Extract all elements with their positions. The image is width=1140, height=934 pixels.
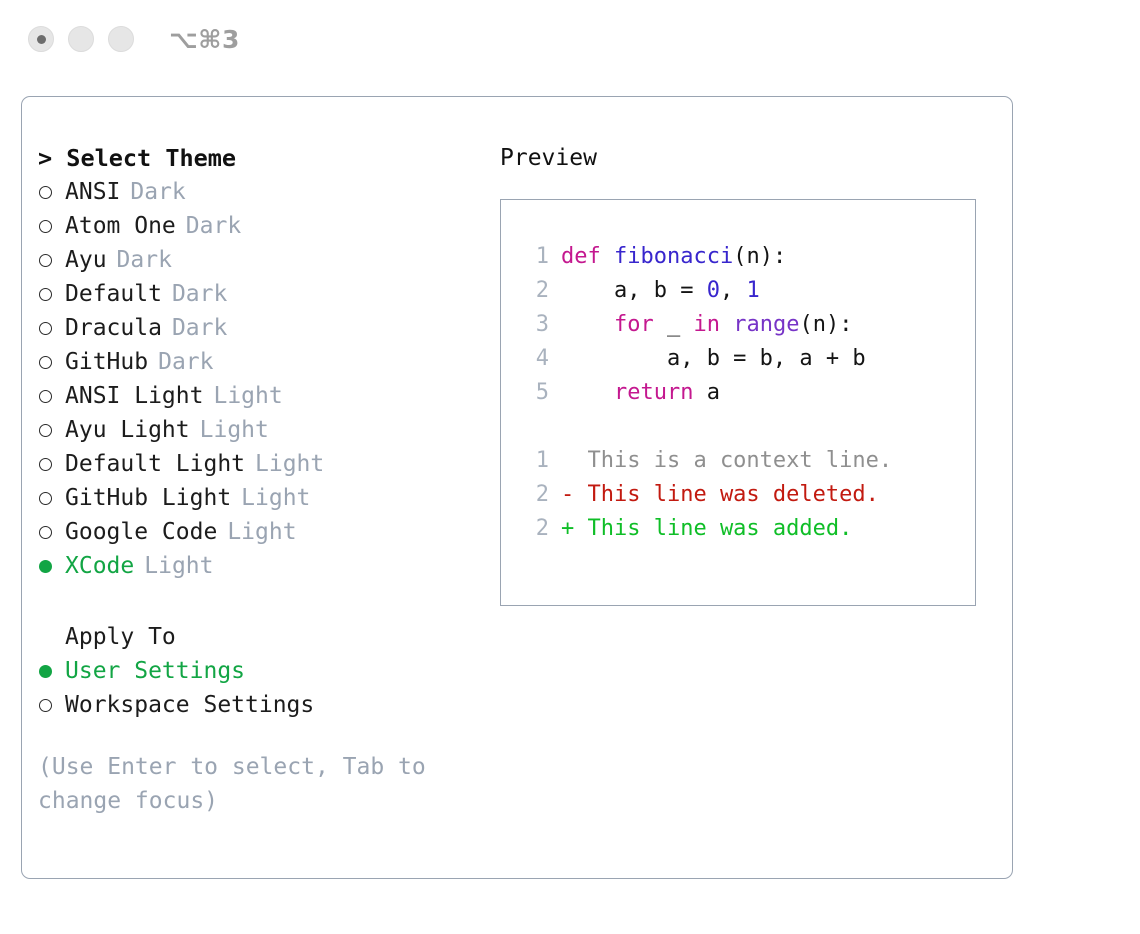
diff-line: 1 This is a context line. <box>519 444 975 478</box>
radio-unselected-icon <box>39 424 52 437</box>
radio-marker <box>38 379 65 413</box>
preview-box: 1def fibonacci(n):2 a, b = 0, 13 for _ i… <box>500 199 976 606</box>
window-controls <box>28 26 134 52</box>
theme-name: Atom One <box>65 209 176 243</box>
theme-list-item[interactable]: Google CodeLight <box>38 515 478 549</box>
window-dot-second-icon[interactable] <box>68 26 94 52</box>
window-titlebar: ⌥⌘3 <box>0 0 1140 78</box>
radio-unselected-icon <box>39 254 52 267</box>
theme-list-item[interactable]: Atom OneDark <box>38 209 478 243</box>
code-line-number: 2 <box>519 274 549 308</box>
radio-unselected-icon <box>39 356 52 369</box>
diff-line-number: 1 <box>519 444 549 478</box>
radio-marker <box>38 515 65 549</box>
theme-name: GitHub <box>65 345 148 379</box>
theme-list-item[interactable]: Ayu LightLight <box>38 413 478 447</box>
code-sample: 1def fibonacci(n):2 a, b = 0, 13 for _ i… <box>519 240 975 410</box>
window-dot-active-icon[interactable] <box>28 26 54 52</box>
radio-unselected-icon <box>39 492 52 505</box>
radio-unselected-icon <box>39 322 52 335</box>
theme-list-item[interactable]: GitHub LightLight <box>38 481 478 515</box>
radio-unselected-icon <box>39 526 52 539</box>
preview-label: Preview <box>500 141 1000 175</box>
theme-kind-badge: Dark <box>130 175 185 209</box>
diff-line-number: 2 <box>519 478 549 512</box>
theme-kind-badge: Light <box>227 515 296 549</box>
theme-name: ANSI <box>65 175 120 209</box>
theme-kind-badge: Light <box>144 549 213 583</box>
theme-name: Dracula <box>65 311 162 345</box>
diff-line: 2+ This line was added. <box>519 512 975 546</box>
code-line-number: 5 <box>519 376 549 410</box>
radio-marker <box>38 345 65 379</box>
theme-name: ANSI Light <box>65 379 203 413</box>
code-line-number: 1 <box>519 240 549 274</box>
theme-name: Default Light <box>65 447 245 481</box>
theme-kind-badge: Dark <box>172 311 227 345</box>
code-line-content: for _ in range(n): <box>561 308 852 342</box>
diff-line-content: This is a context line. <box>561 444 892 478</box>
select-theme-header: > Select Theme <box>38 141 478 175</box>
code-line-content: a, b = 0, 1 <box>561 274 760 308</box>
radio-marker <box>38 447 65 481</box>
theme-list-item[interactable]: DefaultDark <box>38 277 478 311</box>
apply-to-option[interactable]: Workspace Settings <box>38 688 478 722</box>
radio-selected-icon <box>39 560 52 573</box>
radio-unselected-icon <box>39 699 52 712</box>
apply-to-list: User SettingsWorkspace Settings <box>38 654 478 722</box>
theme-kind-badge: Dark <box>158 345 213 379</box>
radio-unselected-icon <box>39 390 52 403</box>
radio-marker <box>38 311 65 345</box>
theme-name: Default <box>65 277 162 311</box>
radio-unselected-icon <box>39 220 52 233</box>
main-panel: > Select Theme ANSIDarkAtom OneDarkAyuDa… <box>21 96 1013 879</box>
code-line: 2 a, b = 0, 1 <box>519 274 975 308</box>
code-line: 5 return a <box>519 376 975 410</box>
apply-to-option-label: Workspace Settings <box>65 688 314 722</box>
diff-line-content: + This line was added. <box>561 512 852 546</box>
radio-marker <box>38 277 65 311</box>
theme-name: Ayu Light <box>65 413 190 447</box>
code-line-content: return a <box>561 376 720 410</box>
theme-kind-badge: Light <box>200 413 269 447</box>
radio-selected-icon <box>39 665 52 678</box>
code-line-number: 3 <box>519 308 549 342</box>
theme-list-item[interactable]: ANSIDark <box>38 175 478 209</box>
diff-line: 2- This line was deleted. <box>519 478 975 512</box>
apply-to-option[interactable]: User Settings <box>38 654 478 688</box>
theme-name: XCode <box>65 549 134 583</box>
theme-list-item[interactable]: ANSI LightLight <box>38 379 478 413</box>
theme-kind-badge: Light <box>213 379 282 413</box>
radio-marker <box>38 654 65 688</box>
code-diff-separator <box>519 410 975 444</box>
code-line-content: a, b = b, a + b <box>561 342 866 376</box>
radio-marker <box>38 481 65 515</box>
radio-unselected-icon <box>39 458 52 471</box>
code-line: 3 for _ in range(n): <box>519 308 975 342</box>
theme-kind-badge: Dark <box>186 209 241 243</box>
radio-marker <box>38 688 65 722</box>
apply-to-header: Apply To <box>38 620 478 654</box>
code-line: 1def fibonacci(n): <box>519 240 975 274</box>
radio-unselected-icon <box>39 186 52 199</box>
code-line: 4 a, b = b, a + b <box>519 342 975 376</box>
theme-kind-badge: Light <box>255 447 324 481</box>
theme-selection-column: > Select Theme ANSIDarkAtom OneDarkAyuDa… <box>38 141 478 818</box>
diff-sample: 1 This is a context line.2- This line wa… <box>519 444 975 546</box>
radio-marker <box>38 209 65 243</box>
theme-list-item[interactable]: AyuDark <box>38 243 478 277</box>
theme-kind-badge: Dark <box>117 243 172 277</box>
theme-list-item[interactable]: DraculaDark <box>38 311 478 345</box>
diff-line-number: 2 <box>519 512 549 546</box>
radio-marker <box>38 175 65 209</box>
diff-line-content: - This line was deleted. <box>561 478 879 512</box>
code-line-content: def fibonacci(n): <box>561 240 786 274</box>
theme-list-item[interactable]: Default LightLight <box>38 447 478 481</box>
radio-marker <box>38 549 65 583</box>
theme-name: Google Code <box>65 515 217 549</box>
radio-marker <box>38 243 65 277</box>
code-line-number: 4 <box>519 342 549 376</box>
radio-marker <box>38 413 65 447</box>
theme-list-item[interactable]: GitHubDark <box>38 345 478 379</box>
theme-name: Ayu <box>65 243 107 277</box>
preview-column: Preview 1def fibonacci(n):2 a, b = 0, 13… <box>500 141 1000 606</box>
theme-kind-badge: Light <box>241 481 310 515</box>
radio-unselected-icon <box>39 288 52 301</box>
theme-kind-badge: Dark <box>172 277 227 311</box>
keyboard-shortcut-label: ⌥⌘3 <box>169 25 240 54</box>
window-dot-third-icon[interactable] <box>108 26 134 52</box>
theme-list: ANSIDarkAtom OneDarkAyuDarkDefaultDarkDr… <box>38 175 478 583</box>
apply-to-option-label: User Settings <box>65 654 245 688</box>
section-gap <box>38 583 478 620</box>
theme-list-item[interactable]: XCodeLight <box>38 549 478 583</box>
keyboard-hint-text: (Use Enter to select, Tab to change focu… <box>38 750 458 818</box>
theme-name: GitHub Light <box>65 481 231 515</box>
